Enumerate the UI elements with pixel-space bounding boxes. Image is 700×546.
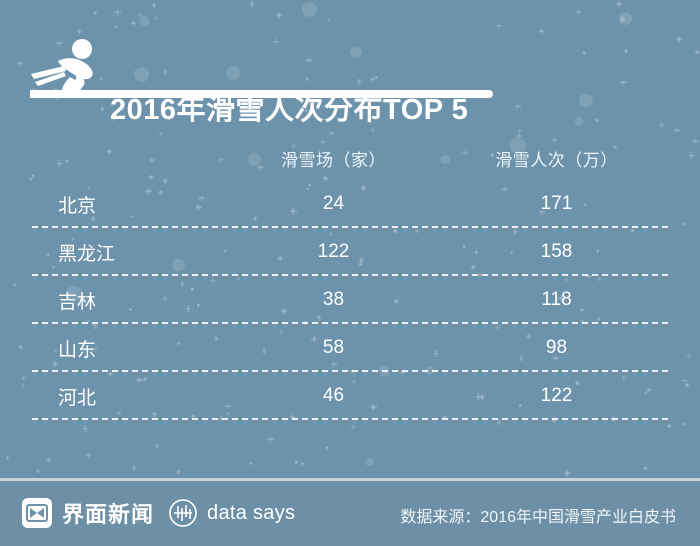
table-header-row: 滑雪场（家） 滑雪人次（万） xyxy=(32,136,668,180)
skier-icon xyxy=(26,38,118,100)
cell-region: 山东 xyxy=(32,335,222,362)
column-header-resorts: 滑雪场（家） xyxy=(222,146,445,171)
cell-resorts: 38 xyxy=(222,289,445,311)
data-source-note: 数据来源：2016年中国滑雪产业白皮书 xyxy=(400,503,676,527)
cell-visits: 158 xyxy=(445,241,668,263)
row-divider xyxy=(32,418,668,420)
brand-name: 界面新闻 xyxy=(62,497,154,529)
table-row: 吉林 38 118 xyxy=(32,276,668,324)
table-row: 北京 24 171 xyxy=(32,180,668,228)
cell-resorts: 122 xyxy=(222,241,445,263)
cell-region: 河北 xyxy=(32,383,222,410)
cell-region: 北京 xyxy=(32,191,222,218)
column-header-visits: 滑雪人次（万） xyxy=(445,146,668,171)
data-table: 滑雪场（家） 滑雪人次（万） 北京 24 171 黑龙江 122 158 吉林 … xyxy=(32,136,668,420)
cell-resorts: 46 xyxy=(222,385,445,407)
infographic-poster: 2016年滑雪人次分布TOP 5 滑雪场（家） 滑雪人次（万） 北京 24 17… xyxy=(0,0,700,546)
brand-block: 界面新闻 data says xyxy=(22,497,295,529)
table-row: 山东 58 98 xyxy=(32,324,668,372)
poster-footer: 界面新闻 data says 数据来源：2016年中国滑雪产业白皮书 xyxy=(0,478,700,546)
table-row: 黑龙江 122 158 xyxy=(32,228,668,276)
cell-visits: 171 xyxy=(445,193,668,215)
cell-visits: 118 xyxy=(445,289,668,311)
page-title: 2016年滑雪人次分布TOP 5 xyxy=(110,86,468,128)
table-row: 河北 46 122 xyxy=(32,372,668,420)
jiemian-logo-icon xyxy=(22,498,52,528)
cell-visits: 122 xyxy=(445,385,668,407)
poster-header: 2016年滑雪人次分布TOP 5 xyxy=(0,34,700,108)
cell-visits: 98 xyxy=(445,337,668,359)
cell-resorts: 58 xyxy=(222,337,445,359)
cell-region: 吉林 xyxy=(32,287,222,314)
data-says-text: data says xyxy=(207,502,295,525)
cell-region: 黑龙江 xyxy=(32,239,222,266)
cell-resorts: 24 xyxy=(222,193,445,215)
data-says-circle-icon xyxy=(168,498,198,528)
